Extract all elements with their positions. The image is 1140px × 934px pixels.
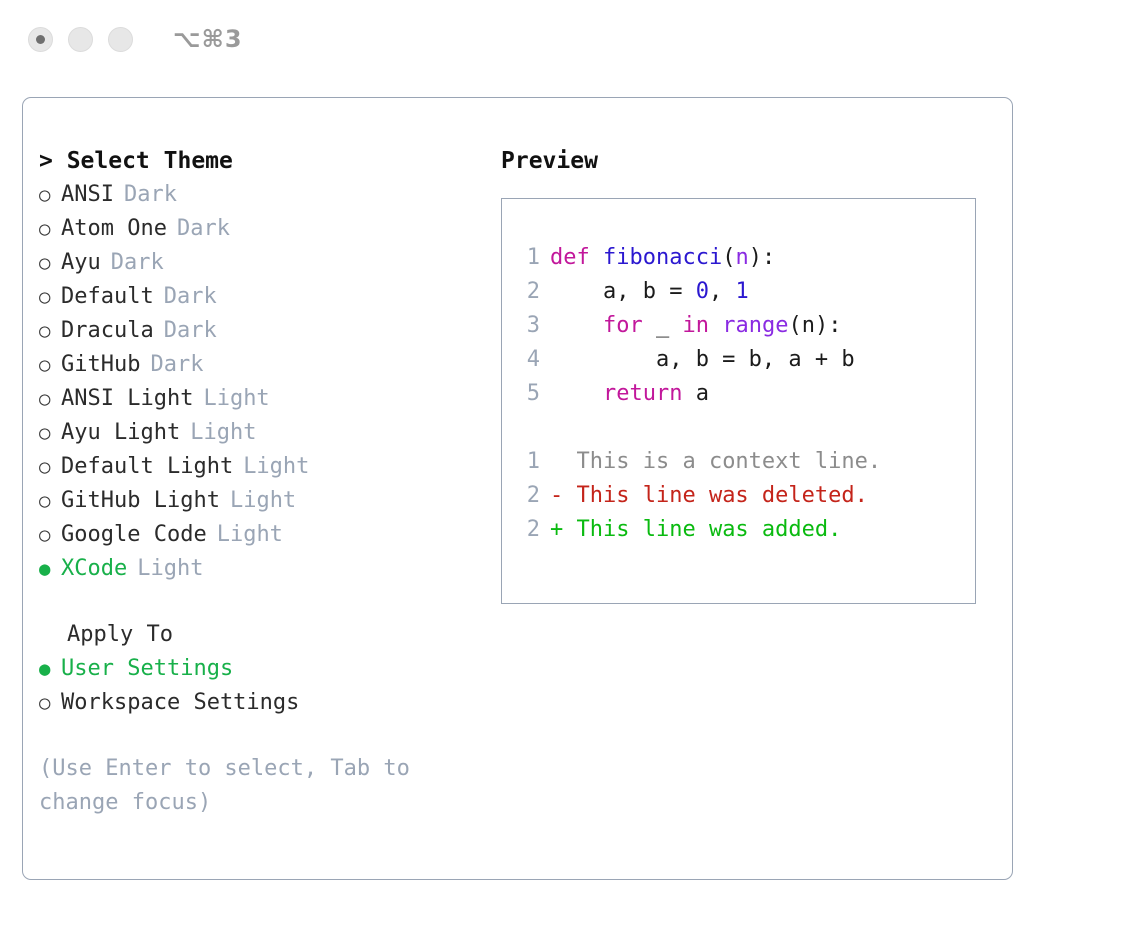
radio-unselected-icon: ○ — [39, 518, 61, 552]
window-controls — [28, 27, 133, 52]
theme-option-ayu-light[interactable]: ○Ayu LightLight — [39, 416, 489, 450]
diff-line-number: 2 — [514, 479, 540, 513]
diff-line-text: This line was added. — [563, 517, 841, 542]
preview-pane: Preview 1def fibonacci(n):2 a, b = 0, 13… — [501, 144, 991, 604]
code-token: a — [682, 381, 709, 406]
code-token: (n): — [788, 313, 841, 338]
theme-option-label: Ayu — [61, 246, 101, 280]
apply-to-option-user-settings[interactable]: ●User Settings — [39, 652, 489, 686]
window-button-2[interactable] — [68, 27, 93, 52]
theme-option-default[interactable]: ○DefaultDark — [39, 280, 489, 314]
apply-to-title: Apply To — [39, 618, 489, 652]
theme-selector-pane: > Select Theme ○ANSIDark○Atom OneDark○Ay… — [39, 144, 489, 820]
theme-option-ayu[interactable]: ○AyuDark — [39, 246, 489, 280]
code-token: n — [735, 245, 748, 270]
theme-option-dracula[interactable]: ○DraculaDark — [39, 314, 489, 348]
window-button-1[interactable] — [28, 27, 53, 52]
code-line: 5 return a — [514, 377, 881, 411]
code-diff-separator — [514, 411, 881, 445]
theme-option-label: ANSI — [61, 178, 114, 212]
code-token: a, b = b, a + b — [550, 347, 855, 372]
code-token: , — [709, 279, 736, 304]
code-line: 4 a, b = b, a + b — [514, 343, 881, 377]
theme-option-label: Dracula — [61, 314, 154, 348]
window-button-3[interactable] — [108, 27, 133, 52]
diff-line-number: 2 — [514, 513, 540, 547]
theme-option-label: Default Light — [61, 450, 233, 484]
preview-box: 1def fibonacci(n):2 a, b = 0, 13 for _ i… — [501, 198, 976, 604]
radio-unselected-icon: ○ — [39, 212, 61, 246]
radio-unselected-icon: ○ — [39, 416, 61, 450]
preview-title: Preview — [501, 144, 991, 178]
code-line: 3 for _ in range(n): — [514, 309, 881, 343]
theme-option-category: Light — [243, 450, 309, 484]
code-line-number: 3 — [514, 309, 540, 343]
theme-option-github-light[interactable]: ○GitHub LightLight — [39, 484, 489, 518]
code-line-number: 5 — [514, 377, 540, 411]
keyboard-shortcut-label: ⌥⌘3 — [173, 25, 243, 53]
code-token: 0 — [696, 279, 709, 304]
radio-selected-icon: ● — [39, 652, 61, 686]
diff-line-sign — [550, 449, 563, 474]
dialog-frame: > Select Theme ○ANSIDark○Atom OneDark○Ay… — [22, 97, 1013, 880]
code-token: _ — [643, 313, 683, 338]
radio-unselected-icon: ○ — [39, 348, 61, 382]
code-line-number: 1 — [514, 241, 540, 275]
theme-option-category: Dark — [164, 280, 217, 314]
code-token: ): — [749, 245, 776, 270]
theme-option-label: GitHub Light — [61, 484, 220, 518]
window-button-1-dot — [36, 35, 45, 44]
theme-list-title: > Select Theme — [39, 144, 489, 178]
theme-list[interactable]: ○ANSIDark○Atom OneDark○AyuDark○DefaultDa… — [39, 178, 489, 586]
diff-line-ctx: 1 This is a context line. — [514, 445, 881, 479]
radio-unselected-icon: ○ — [39, 280, 61, 314]
code-token: in — [682, 313, 709, 338]
radio-unselected-icon: ○ — [39, 314, 61, 348]
radio-selected-icon: ● — [39, 552, 61, 586]
code-line-number: 4 — [514, 343, 540, 377]
code-line: 2 a, b = 0, 1 — [514, 275, 881, 309]
code-line: 1def fibonacci(n): — [514, 241, 881, 275]
diff-line-text: This is a context line. — [563, 449, 881, 474]
apply-to-option-label: User Settings — [61, 652, 233, 686]
theme-option-default-light[interactable]: ○Default LightLight — [39, 450, 489, 484]
theme-option-label: XCode — [61, 552, 127, 586]
theme-option-category: Light — [203, 382, 269, 416]
theme-option-label: Default — [61, 280, 154, 314]
code-token: range — [722, 313, 788, 338]
diff-line-del: 2- This line was deleted. — [514, 479, 881, 513]
radio-unselected-icon: ○ — [39, 178, 61, 212]
diff-line-add: 2+ This line was added. — [514, 513, 881, 547]
theme-option-label: Ayu Light — [61, 416, 180, 450]
apply-to-option-workspace-settings[interactable]: ○Workspace Settings — [39, 686, 489, 720]
theme-option-label: ANSI Light — [61, 382, 193, 416]
radio-unselected-icon: ○ — [39, 484, 61, 518]
theme-option-category: Light — [217, 518, 283, 552]
theme-option-ansi[interactable]: ○ANSIDark — [39, 178, 489, 212]
code-token: return — [603, 381, 682, 406]
code-token: a, b = — [550, 279, 696, 304]
theme-option-category: Dark — [124, 178, 177, 212]
diff-line-sign: - — [550, 483, 563, 508]
code-token — [550, 313, 603, 338]
theme-option-category: Light — [190, 416, 256, 450]
theme-option-category: Dark — [111, 246, 164, 280]
theme-option-atom-one[interactable]: ○Atom OneDark — [39, 212, 489, 246]
theme-option-label: GitHub — [61, 348, 140, 382]
radio-unselected-icon: ○ — [39, 450, 61, 484]
preview-code-sample: 1def fibonacci(n):2 a, b = 0, 13 for _ i… — [514, 241, 881, 547]
theme-option-label: Google Code — [61, 518, 207, 552]
theme-option-category: Dark — [150, 348, 203, 382]
code-token: fibonacci — [603, 245, 722, 270]
code-token: def — [550, 245, 603, 270]
diff-line-sign: + — [550, 517, 563, 542]
theme-option-xcode[interactable]: ●XCodeLight — [39, 552, 489, 586]
radio-unselected-icon: ○ — [39, 382, 61, 416]
diff-line-text: This line was deleted. — [563, 483, 868, 508]
theme-option-ansi-light[interactable]: ○ANSI LightLight — [39, 382, 489, 416]
apply-to-list[interactable]: ●User Settings○Workspace Settings — [39, 652, 489, 720]
apply-to-section: Apply To ●User Settings○Workspace Settin… — [39, 618, 489, 720]
code-line-number: 2 — [514, 275, 540, 309]
code-token — [550, 381, 603, 406]
theme-option-category: Light — [230, 484, 296, 518]
code-token: ( — [722, 245, 735, 270]
theme-option-github[interactable]: ○GitHubDark — [39, 348, 489, 382]
code-token: 1 — [735, 279, 748, 304]
theme-option-category: Dark — [177, 212, 230, 246]
theme-option-label: Atom One — [61, 212, 167, 246]
theme-option-google-code[interactable]: ○Google CodeLight — [39, 518, 489, 552]
diff-line-number: 1 — [514, 445, 540, 479]
code-token — [709, 313, 722, 338]
code-token: for — [603, 313, 643, 338]
radio-unselected-icon: ○ — [39, 686, 61, 720]
theme-option-category: Dark — [164, 314, 217, 348]
theme-option-category: Light — [137, 552, 203, 586]
window-titlebar: ⌥⌘3 — [0, 0, 1140, 78]
radio-unselected-icon: ○ — [39, 246, 61, 280]
apply-to-option-label: Workspace Settings — [61, 686, 299, 720]
keyboard-hint-text: (Use Enter to select, Tab to change focu… — [39, 752, 439, 820]
